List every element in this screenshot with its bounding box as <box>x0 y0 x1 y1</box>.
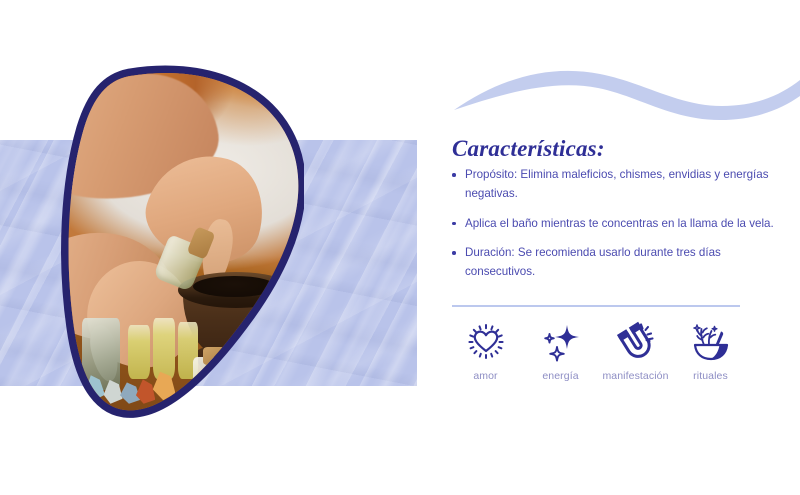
photo-jar-left <box>82 318 120 389</box>
photo-oil-bottle-2 <box>153 318 176 379</box>
icon-cell-rituales: rituales <box>673 318 748 382</box>
icon-cell-energia: energía <box>523 318 598 382</box>
navy-organic-frame <box>52 62 304 418</box>
icon-label: manifestación <box>602 370 668 382</box>
icon-label: rituales <box>693 370 728 382</box>
icon-label: amor <box>473 370 497 382</box>
magnet-icon <box>613 318 659 366</box>
decorative-wave <box>440 48 800 124</box>
icon-cell-amor: amor <box>448 318 523 382</box>
left-visual-composition <box>0 0 440 495</box>
heart-sparkle-icon <box>463 318 509 366</box>
wave-path <box>454 71 800 120</box>
section-divider <box>452 305 740 307</box>
blob-svg <box>52 62 304 418</box>
slide-canvas: Características: Propósito: Elimina male… <box>0 0 800 495</box>
icon-cell-manifestacion: manifestación <box>598 318 673 382</box>
sparkles-icon <box>538 318 584 366</box>
photo-oil-bottle-1 <box>128 325 151 378</box>
ritual-photo <box>52 62 304 418</box>
icon-legend-section: amor energía <box>440 140 800 260</box>
icon-row: amor energía <box>448 318 748 382</box>
right-content-column: Características: Propósito: Elimina male… <box>440 0 800 495</box>
mortar-herbs-icon <box>688 318 734 366</box>
icon-label: energía <box>542 370 578 382</box>
